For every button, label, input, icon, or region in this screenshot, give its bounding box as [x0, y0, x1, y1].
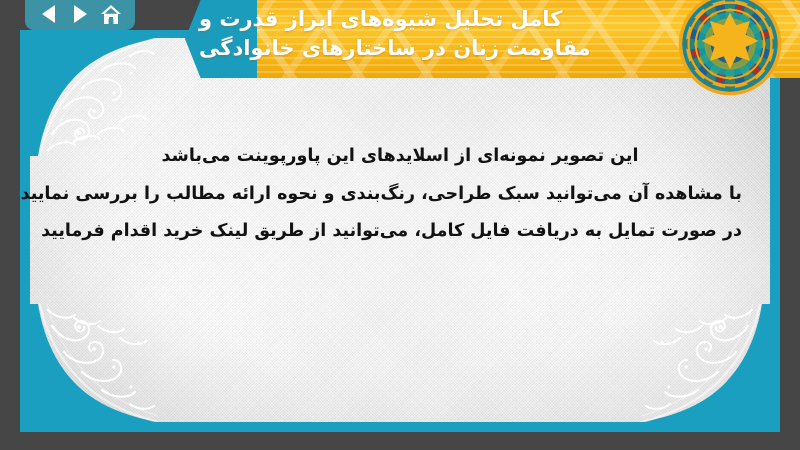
forward-button[interactable]	[67, 2, 93, 26]
slide-title-banner: کامل تحلیل شیوه‌های ابراز قدرت و مقاومت …	[185, 0, 800, 78]
banner-chevron-pattern	[257, 0, 800, 78]
banner-gold-body	[257, 0, 800, 78]
triangle-left-icon	[40, 4, 58, 24]
slide-body-text: این تصویر نمونه‌ای از اسلایدهای این پاور…	[58, 138, 742, 251]
body-line-3: در صورت تمایل به دریافت فایل کامل، می‌تو…	[58, 213, 742, 251]
slide-preview-stage: این تصویر نمونه‌ای از اسلایدهای این پاور…	[0, 0, 800, 450]
body-line-2: با مشاهده آن می‌توانید سبک طراحی، رنگ‌بن…	[58, 176, 742, 214]
home-icon	[100, 4, 122, 25]
slide-frame: این تصویر نمونه‌ای از اسلایدهای این پاور…	[20, 30, 780, 432]
home-button[interactable]	[98, 2, 124, 26]
banner-arrow-shape	[185, 0, 263, 78]
back-button[interactable]	[36, 2, 62, 26]
navigation-toolbar[interactable]	[25, 0, 135, 30]
triangle-right-icon	[71, 4, 89, 24]
body-line-1: این تصویر نمونه‌ای از اسلایدهای این پاور…	[58, 138, 742, 176]
